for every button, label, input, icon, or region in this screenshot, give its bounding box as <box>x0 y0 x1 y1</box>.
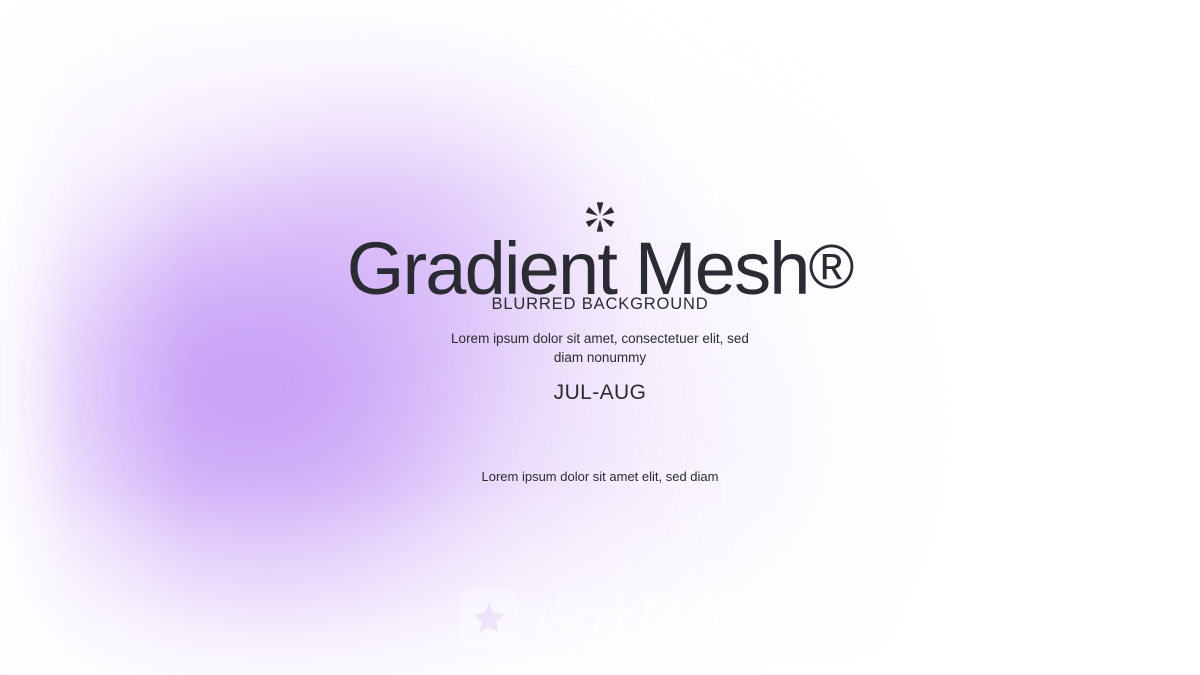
period-label: JUL-AUG <box>0 381 1200 405</box>
registered-trademark-symbol: ® <box>809 233 854 302</box>
poster-content: Gradient Mesh® BLURRED BACKGROUND Lorem … <box>0 0 1200 675</box>
page-subtitle: BLURRED BACKGROUND <box>0 295 1200 314</box>
footnote-paragraph: Lorem ipsum dolor sit amet elit, sed dia… <box>460 468 740 486</box>
gradient-mesh-poster: Gradient Mesh® BLURRED BACKGROUND Lorem … <box>0 0 1200 675</box>
lede-paragraph: Lorem ipsum dolor sit amet, consectetuer… <box>435 329 765 367</box>
